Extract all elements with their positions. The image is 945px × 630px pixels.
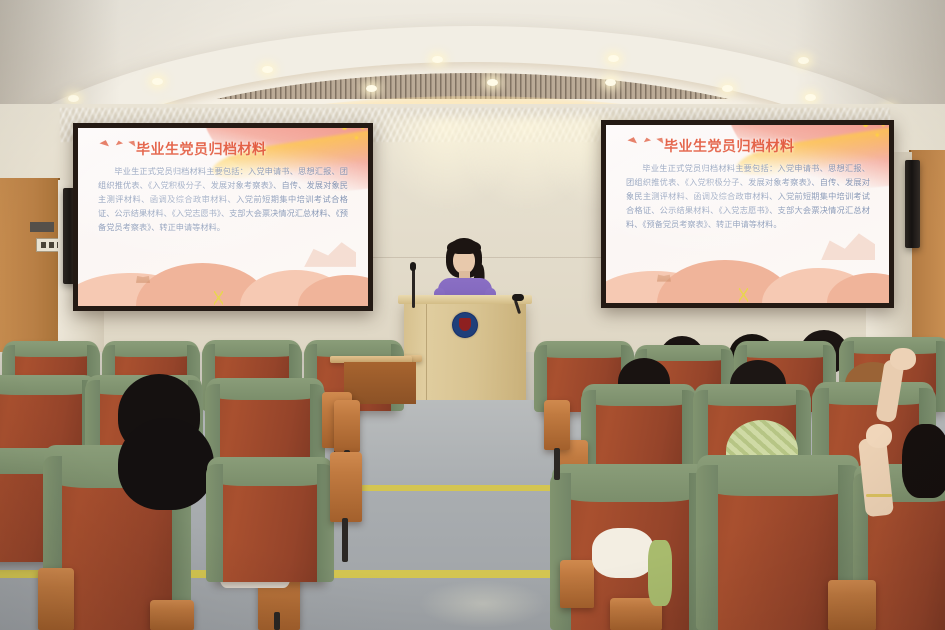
presenter-fringe [447,240,481,254]
lecture-hall-photo: 毕业生党员归档材料 毕业生正式党员归档材料主要包括：入党申请书、思想汇报、团组织… [0,0,945,630]
attendee-far-right-hand [866,424,892,448]
seat-armrest-aisle [334,400,360,452]
floor-light-reflection [418,580,548,628]
downlight [68,95,79,102]
downlight [366,85,377,92]
downlight [798,57,809,64]
wall-switch-plate[interactable] [30,222,54,232]
microphone-left-head [410,262,416,271]
microphone-right-head [512,294,524,301]
mountain-silhouette [606,257,889,303]
seat-leg [342,518,348,562]
right-projection-screen: 毕业生党员归档材料 毕业生正式党员归档材料主要包括：入党申请书、思想汇报、团组织… [601,120,894,308]
attendee-far-right-head [902,424,945,498]
downlight [432,56,443,63]
slide-title: 毕业生党员归档材料 [664,136,795,156]
downlight [608,55,619,62]
building-silhouette [821,228,875,260]
bracelet [866,494,892,497]
seat-leg [554,448,560,480]
seat-armrest-aisle [330,452,362,522]
downlight [722,85,733,92]
slide-body-text: 毕业生正式党员归档材料主要包括：入党申请书、思想汇报、团组织推优表、《入党积极分… [98,164,348,235]
dove-graphics [628,137,666,142]
podium-edge [426,304,427,412]
hammer-sickle-emblem [739,288,748,302]
green-bag-strap [648,540,672,606]
wall-speaker-right [905,160,920,248]
attendee-left-front-head [118,418,214,510]
downlight [262,66,273,73]
podium [404,300,526,412]
seat-leg [274,612,280,630]
auditorium-seat[interactable] [214,462,326,582]
hammer-sickle-emblem [214,291,223,305]
seat-armrest-aisle [544,400,570,450]
building-silhouette [304,237,356,267]
seat-armrest [560,560,594,608]
downlight [152,78,163,85]
white-cloth-bag [592,528,654,578]
dove-graphics [100,140,138,145]
slide-title: 毕业生党员归档材料 [136,139,267,159]
microphone-left-stem [412,268,415,308]
seat-armrest [38,568,74,630]
seat-armrest [828,580,876,630]
institution-seal-emblem [452,312,478,338]
left-projection-screen: 毕业生党员归档材料 毕业生正式党员归档材料主要包括：入党申请书、思想汇报、团组织… [73,123,373,311]
attendee-right-arm-raised-hand [890,348,916,370]
slide-body-text: 毕业生正式党员归档材料主要包括：入党申请书、思想汇报、团组织推优表、《入党积极分… [626,161,870,232]
downlight [605,79,616,86]
downlight [487,79,498,86]
downlight [805,94,816,101]
seat-armrest [150,600,194,630]
desk-front-panel [344,362,416,404]
